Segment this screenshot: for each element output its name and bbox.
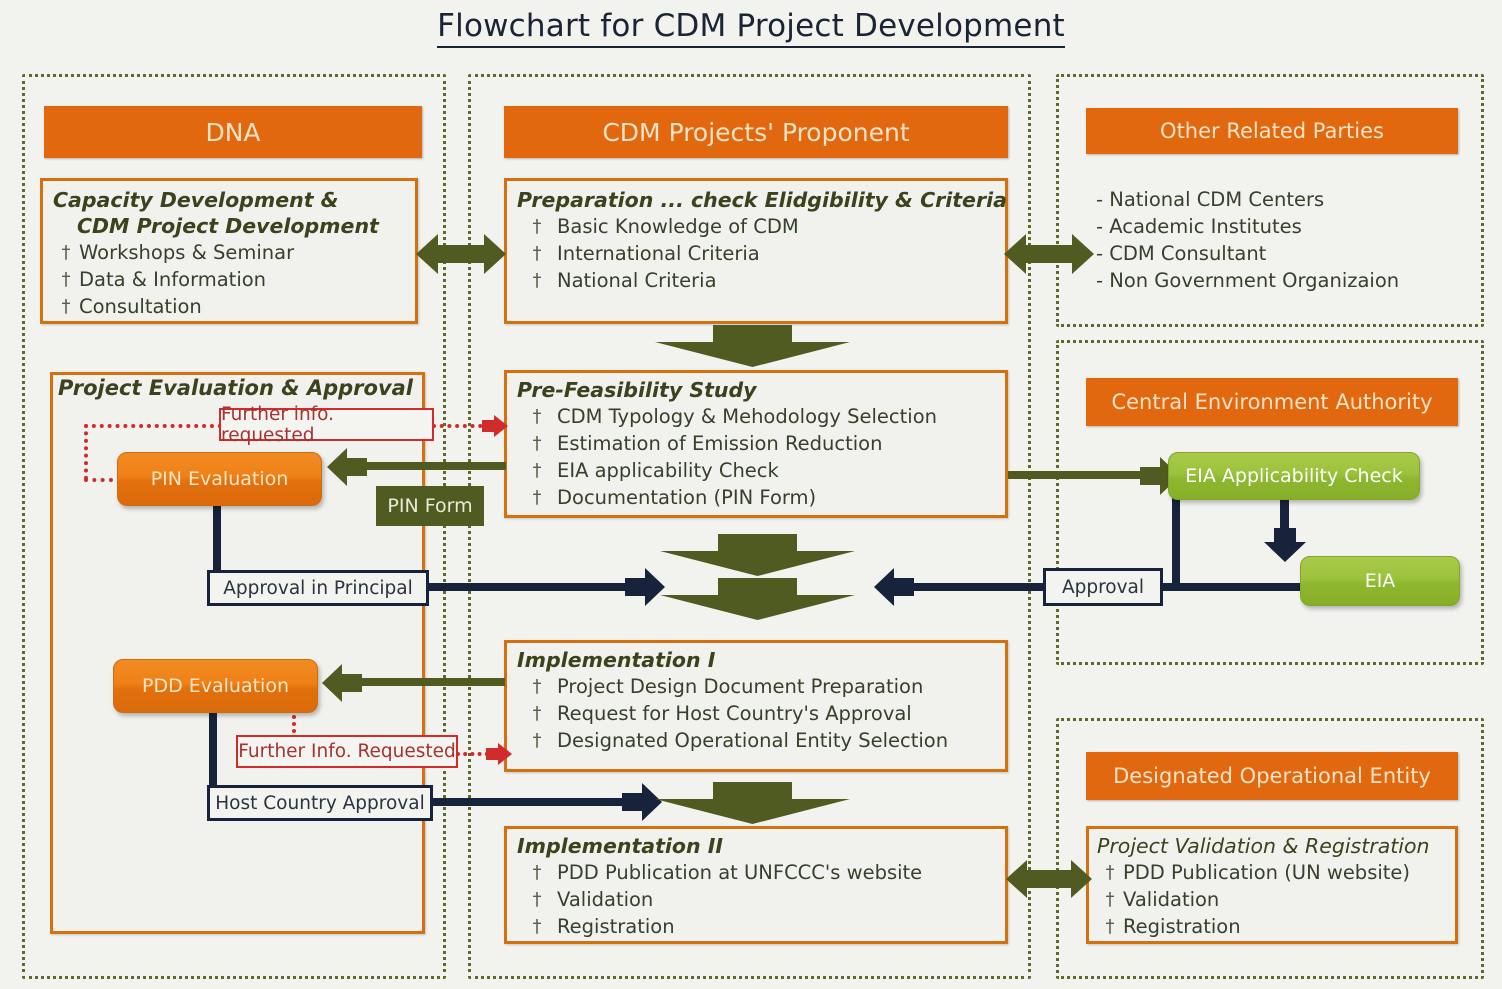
further-info-requested-label-2[interactable]: Further Info. Requested xyxy=(236,735,458,768)
list-item: †Designated Operational Entity Selection xyxy=(517,727,997,754)
header-proponent: CDM Projects' Proponent xyxy=(504,106,1008,158)
list-item: †National Criteria xyxy=(517,267,997,294)
pin-evaluation-label: PIN Evaluation xyxy=(151,468,289,490)
connector-eia-check-down-stub xyxy=(1172,498,1180,588)
header-dna: DNA xyxy=(44,106,422,158)
list-item-label: Validation xyxy=(557,886,653,913)
list-item: †Workshops & Seminar xyxy=(53,239,407,266)
pin-form-label: PIN Form xyxy=(376,486,484,526)
red-dotted-line-pin-top xyxy=(84,424,222,428)
list-item: †Project Design Document Preparation xyxy=(517,673,997,700)
dagger-bullet-icon: † xyxy=(517,913,557,940)
list-item: †Estimation of Emission Reduction xyxy=(517,430,997,457)
red-dotted-line-pin-left xyxy=(84,424,88,480)
double-headed-arrow-icon xyxy=(1004,232,1094,276)
pin-form-text: PIN Form xyxy=(387,495,472,517)
list-item-label: International Criteria xyxy=(557,240,760,267)
dagger-bullet-icon: † xyxy=(517,859,557,886)
double-headed-arrow-icon xyxy=(416,232,506,276)
list-item: †EIA applicability Check xyxy=(517,457,997,484)
dagger-bullet-icon: † xyxy=(517,727,557,754)
dagger-bullet-icon: † xyxy=(517,403,557,430)
dagger-bullet-icon: † xyxy=(1097,886,1123,913)
header-central-environment-authority: Central Environment Authority xyxy=(1086,378,1458,426)
dagger-bullet-icon: † xyxy=(517,886,557,913)
list-item-label: Designated Operational Entity Selection xyxy=(557,727,948,754)
dagger-bullet-icon: † xyxy=(517,240,557,267)
header-designated-operational-entity: Designated Operational Entity xyxy=(1086,752,1458,800)
arrow-left-icon xyxy=(325,446,367,488)
connector-approval-left xyxy=(912,583,1046,591)
pdd-evaluation-button[interactable]: PDD Evaluation xyxy=(113,659,318,713)
connector-approval-right xyxy=(420,583,635,591)
list-item-label: National Criteria xyxy=(557,267,717,294)
dagger-bullet-icon: † xyxy=(53,293,79,320)
list-item-label: PDD Publication at UNFCCC's website xyxy=(557,859,922,886)
card-project-evaluation-title: Project Evaluation & Approval xyxy=(58,376,428,400)
further-info-label-2-text: Further Info. Requested xyxy=(238,741,456,762)
list-item: †International Criteria xyxy=(517,240,997,267)
card-doe-title: Project Validation & Registration xyxy=(1097,833,1447,859)
host-country-approval-text: Host Country Approval xyxy=(215,793,424,814)
header-doe-label: Designated Operational Entity xyxy=(1113,764,1431,788)
card-project-validation-registration: Project Validation & Registration †PDD P… xyxy=(1086,826,1458,944)
list-item-label: Documentation (PIN Form) xyxy=(557,484,816,511)
eia-applicability-check-button[interactable]: EIA Applicability Check xyxy=(1168,452,1420,500)
card-implementation-2: Implementation II †PDD Publication at UN… xyxy=(504,826,1008,944)
card-implementation2-list: †PDD Publication at UNFCCC's website †Va… xyxy=(517,859,997,940)
arrow-down-icon xyxy=(660,534,855,576)
card-capacity-development: Capacity Development & CDM Project Devel… xyxy=(40,178,418,324)
page-title-text: Flowchart for CDM Project Development xyxy=(437,8,1065,48)
card-preparation-title: Preparation ... check Elidgibility & Cri… xyxy=(517,187,997,213)
arrow-left-icon xyxy=(872,566,914,608)
approval-text: Approval xyxy=(1062,577,1144,598)
pin-evaluation-button[interactable]: PIN Evaluation xyxy=(117,452,322,506)
further-info-requested-label-1[interactable]: Further info. requested xyxy=(219,408,434,441)
dagger-bullet-icon: † xyxy=(1097,859,1123,886)
list-item-label: CDM Typology & Mehodology Selection xyxy=(557,403,937,430)
card-implementation-1: Implementation I †Project Design Documen… xyxy=(504,640,1008,772)
list-item-label: PDD Publication (UN website) xyxy=(1123,859,1410,886)
list-item-label: Basic Knowledge of CDM xyxy=(557,213,799,240)
list-item-label: Request for Host Country's Approval xyxy=(557,700,912,727)
list-item: †CDM Typology & Mehodology Selection xyxy=(517,403,997,430)
further-info-label-1-text: Further info. requested xyxy=(221,404,432,446)
card-capacity-title-line1: Capacity Development & xyxy=(53,187,407,213)
list-item: †Validation xyxy=(1097,886,1447,913)
list-item-label: Registration xyxy=(557,913,675,940)
list-item: - Non Government Organizaion xyxy=(1096,267,1466,294)
arrow-left-icon xyxy=(320,662,362,704)
arrow-down-icon xyxy=(655,782,850,824)
dagger-bullet-icon: † xyxy=(517,213,557,240)
list-item-label: Registration xyxy=(1123,913,1241,940)
host-country-approval-label[interactable]: Host Country Approval xyxy=(207,785,433,821)
list-item: †Request for Host Country's Approval xyxy=(517,700,997,727)
list-item: - CDM Consultant xyxy=(1096,240,1466,267)
card-doe-list: †PDD Publication (UN website) †Validatio… xyxy=(1097,859,1447,940)
header-cea-label: Central Environment Authority xyxy=(1111,390,1432,414)
list-item-label: Project Design Document Preparation xyxy=(557,673,923,700)
approval-label[interactable]: Approval xyxy=(1043,568,1163,606)
connector-prefeasibility-to-pin xyxy=(360,462,506,470)
list-item: †Validation xyxy=(517,886,997,913)
dagger-bullet-icon: † xyxy=(53,239,79,266)
header-other-parties: Other Related Parties xyxy=(1086,108,1458,154)
list-item-label: Workshops & Seminar xyxy=(79,239,294,266)
header-other-parties-label: Other Related Parties xyxy=(1160,119,1384,143)
list-item: †Registration xyxy=(1097,913,1447,940)
list-item-label: Consultation xyxy=(79,293,202,320)
list-item: †PDD Publication (UN website) xyxy=(1097,859,1447,886)
dagger-bullet-icon: † xyxy=(517,700,557,727)
card-implementation2-title: Implementation II xyxy=(517,833,997,859)
eia-button[interactable]: EIA xyxy=(1300,556,1460,606)
page-title: Flowchart for CDM Project Development xyxy=(0,8,1502,44)
connector-host-approval-right xyxy=(430,798,630,806)
dagger-bullet-icon: † xyxy=(517,673,557,700)
list-item-label: EIA applicability Check xyxy=(557,457,779,484)
dagger-bullet-icon: † xyxy=(53,266,79,293)
list-item: †Basic Knowledge of CDM xyxy=(517,213,997,240)
card-preparation: Preparation ... check Elidgibility & Cri… xyxy=(504,178,1008,324)
list-item-label: Estimation of Emission Reduction xyxy=(557,430,882,457)
list-item: †Data & Information xyxy=(53,266,407,293)
dagger-bullet-icon: † xyxy=(1097,913,1123,940)
eia-label: EIA xyxy=(1365,570,1396,592)
card-implementation1-title: Implementation I xyxy=(517,647,997,673)
card-pre-feasibility-study: Pre-Feasibility Study †CDM Typology & Me… xyxy=(504,370,1008,518)
arrow-down-icon xyxy=(655,325,850,367)
header-proponent-label: CDM Projects' Proponent xyxy=(602,118,909,147)
list-item-label: Validation xyxy=(1123,886,1219,913)
header-dna-label: DNA xyxy=(205,118,260,147)
card-prefeasibility-title: Pre-Feasibility Study xyxy=(517,377,997,403)
arrow-right-icon xyxy=(625,566,665,608)
card-capacity-list: †Workshops & Seminar †Data & Information… xyxy=(53,239,407,320)
list-item: - National CDM Centers xyxy=(1096,186,1466,213)
dagger-bullet-icon: † xyxy=(517,267,557,294)
card-preparation-list: †Basic Knowledge of CDM †International C… xyxy=(517,213,997,294)
arrow-down-icon xyxy=(660,578,855,620)
dagger-bullet-icon: † xyxy=(517,484,557,511)
card-capacity-title-line2: CDM Project Development xyxy=(53,213,407,239)
approval-in-principal-text: Approval in Principal xyxy=(223,578,413,599)
list-item: †Consultation xyxy=(53,293,407,320)
dagger-bullet-icon: † xyxy=(517,430,557,457)
connector-implementation1-to-pdd xyxy=(355,678,505,686)
eia-applicability-check-label: EIA Applicability Check xyxy=(1185,465,1403,487)
pdd-evaluation-label: PDD Evaluation xyxy=(142,675,289,697)
card-prefeasibility-list: †CDM Typology & Mehodology Selection †Es… xyxy=(517,403,997,511)
double-headed-arrow-icon xyxy=(1006,858,1092,900)
approval-in-principal-label[interactable]: Approval in Principal xyxy=(207,570,429,606)
arrow-right-icon xyxy=(482,414,508,438)
arrow-down-icon xyxy=(1264,528,1306,562)
list-item: - Academic Institutes xyxy=(1096,213,1466,240)
list-item: †PDD Publication at UNFCCC's website xyxy=(517,859,997,886)
list-item: †Documentation (PIN Form) xyxy=(517,484,997,511)
connector-prefeasibility-to-eia-check xyxy=(1008,471,1158,479)
arrow-right-icon xyxy=(486,742,512,766)
other-parties-list: - National CDM Centers - Academic Instit… xyxy=(1096,186,1466,294)
list-item: †Registration xyxy=(517,913,997,940)
dagger-bullet-icon: † xyxy=(517,457,557,484)
card-implementation1-list: †Project Design Document Preparation †Re… xyxy=(517,673,997,754)
list-item-label: Data & Information xyxy=(79,266,266,293)
